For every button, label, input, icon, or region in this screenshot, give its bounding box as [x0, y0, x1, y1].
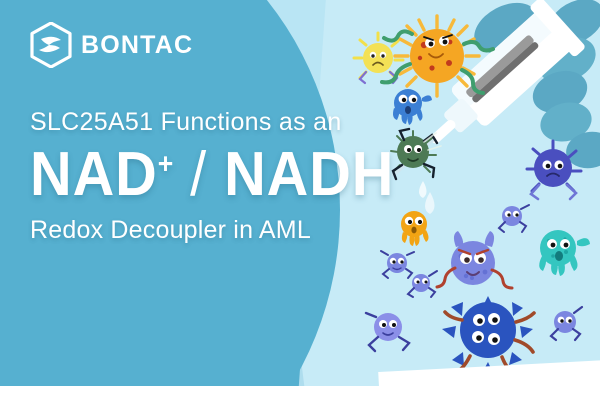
promo-banner: BONTAC SLC25A51 Functions as an NAD+ / N… [0, 0, 600, 400]
brand-name: BONTAC [81, 33, 193, 58]
bontac-hexagon-logo-icon [30, 22, 72, 68]
germ-violet-runner-3 [366, 313, 409, 351]
headline-title-superscript: + [158, 148, 173, 180]
headline-line-3: Redox Decoupler in AML [30, 216, 370, 245]
germ-violet-runner-2 [408, 271, 437, 297]
headline-title-slash: / [190, 140, 207, 209]
headline-block: SLC25A51 Functions as an NAD+ / NADH Red… [30, 108, 370, 245]
germ-violet-runner-1 [381, 251, 414, 278]
headline-line-1: SLC25A51 Functions as an [30, 108, 370, 137]
germ-blue-spiky-4eyes [442, 296, 534, 375]
germ-violet-runner-5 [551, 307, 582, 340]
droplet-icon [419, 181, 435, 214]
brand-logo[interactable]: BONTAC [30, 22, 193, 68]
germ-teal-octopus [539, 230, 590, 276]
headline-title-nad: NAD [30, 140, 158, 209]
germ-violet-runner-4 [499, 205, 529, 232]
headline-title: NAD+ / NADH [30, 143, 346, 206]
germ-purple-angry [437, 231, 512, 288]
headline-title-nadh: NADH [224, 140, 394, 209]
germ-orange-small [401, 211, 429, 246]
germ-blue-octopus [393, 89, 432, 125]
